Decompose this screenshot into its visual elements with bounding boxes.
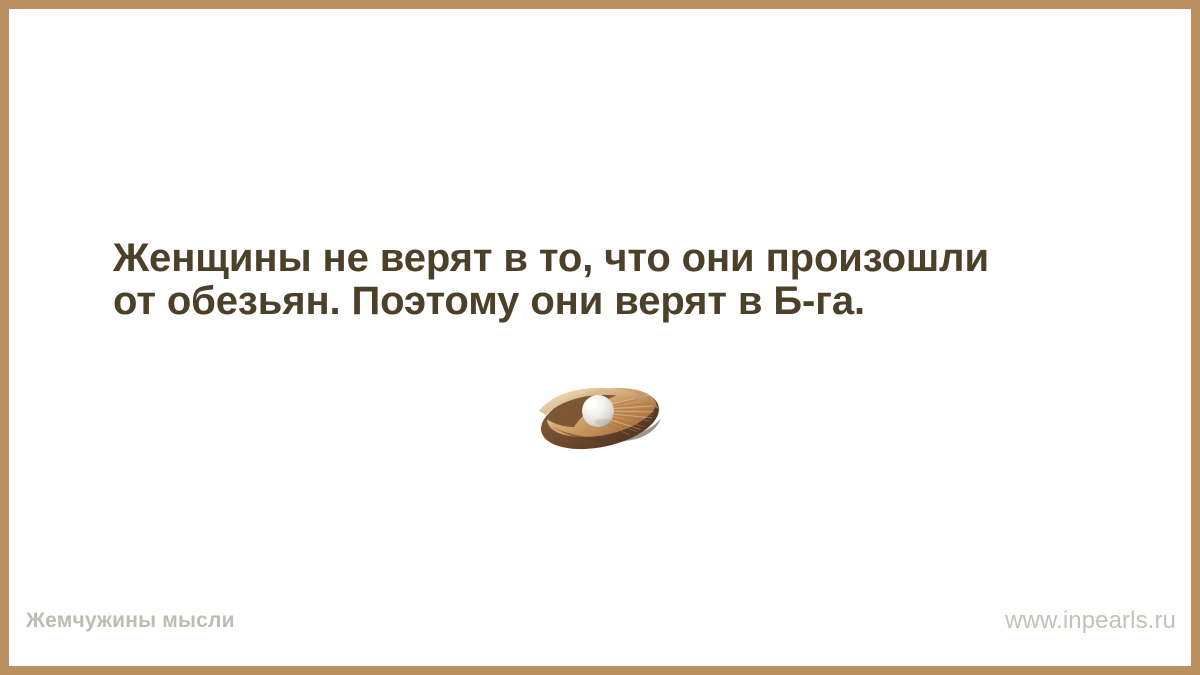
oyster-shell-with-pearl-icon — [532, 377, 668, 453]
quote-card: Женщины не верят в то, что они произошли… — [0, 0, 1200, 675]
brand-label: Жемчужины мысли — [18, 609, 235, 651]
illustration-container — [9, 377, 1191, 453]
quote-text: Женщины не верят в то, что они произошли… — [113, 237, 1087, 323]
site-url-link[interactable]: www.inpearls.ru — [1005, 607, 1182, 653]
quote-block: Женщины не верят в то, что они произошли… — [9, 237, 1191, 323]
footer: Жемчужины мысли www.inpearls.ru — [9, 594, 1191, 666]
